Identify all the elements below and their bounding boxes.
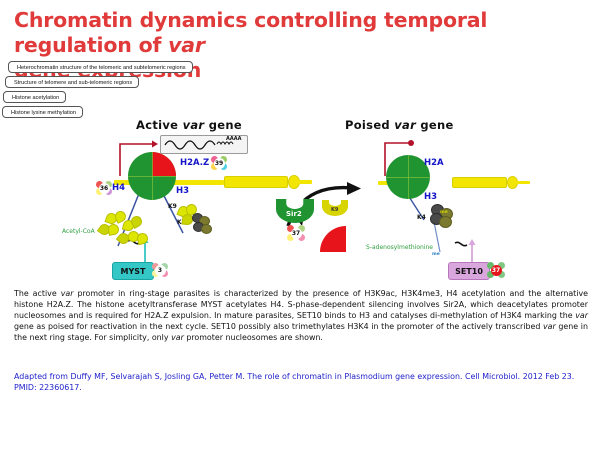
sam-hook <box>455 242 467 245</box>
enzyme-myst-box[interactable]: MYST <box>112 262 154 280</box>
poised-var-gene-body <box>452 177 507 188</box>
h4-modification-badge: 36 <box>96 180 112 196</box>
myst-modification-badge: 3 <box>152 262 168 278</box>
set10-modification-badge: 37 <box>487 261 505 279</box>
badge-core: 3 <box>155 265 166 276</box>
poised-bracket-stop-dot <box>408 140 414 146</box>
active-var-gene-body <box>224 176 288 188</box>
poised-heading-italic: var <box>394 118 416 132</box>
mrna-polya-path <box>217 142 233 144</box>
label-h2a: H2A <box>424 158 444 168</box>
released-acetyl-notch <box>329 199 341 206</box>
active-transcription-arrowhead <box>152 141 158 148</box>
enzyme-set10-label: SET10 <box>455 267 483 276</box>
slide-canvas: Chromatin dynamics controlling temporal … <box>0 0 600 449</box>
label-h3: H3 <box>176 186 189 196</box>
title-line1-text: Chromatin dynamics controlling temporal … <box>14 8 487 57</box>
active-heading-italic: var <box>183 118 205 132</box>
body-italic-var-3: var <box>543 322 556 331</box>
label-h4: H4 <box>112 183 125 193</box>
sir2-crescent-notch <box>286 198 303 209</box>
acetyl-group-leaf <box>136 232 149 245</box>
enzyme-sir2-label: Sir2 <box>286 210 302 218</box>
label-k9-active: K9 <box>168 203 177 210</box>
body-seg-1: The active <box>14 289 61 298</box>
badge-value: 36 <box>100 185 108 192</box>
poised-k4-link-line <box>434 222 440 252</box>
substrate-label-sam: S-adenosylmethionine <box>366 244 433 251</box>
h2az-quadrant <box>152 152 176 176</box>
enzyme-set10-box[interactable]: SET10 <box>448 262 490 280</box>
label-k4-poised: K4 <box>417 214 426 221</box>
panel-heading-poised-var-gene: Poised var gene <box>345 118 454 132</box>
active-nucleosome <box>128 152 176 200</box>
methyl-me-label: me <box>440 210 448 215</box>
active-dna-strand-right <box>298 180 312 184</box>
panel-heading-active-var-gene: Active var gene <box>136 118 242 132</box>
expelled-h2az-wedge <box>320 226 346 252</box>
description-paragraph: The active var promoter in ring-stage pa… <box>14 288 588 343</box>
outline-box-heterochromatin[interactable]: Heterochromatin structure of the telomer… <box>8 61 193 73</box>
methyl-group-blob <box>201 224 212 234</box>
badge-value: 37 <box>492 267 500 274</box>
active-heading-suffix: gene <box>204 118 242 132</box>
nucleosome-axis-horizontal <box>386 177 430 178</box>
mrna-wave-path <box>165 141 215 149</box>
badge-core: 39 <box>214 158 225 169</box>
poised-heading-prefix: Poised <box>345 118 394 132</box>
poised-dna-strand-right <box>516 181 530 184</box>
citation-reference: Adapted from Duffy MF, Selvarajah S, Jos… <box>14 371 588 394</box>
set10-arrowhead <box>469 239 476 245</box>
badge-value: 39 <box>215 160 223 167</box>
label-h3-poised: H3 <box>424 192 437 202</box>
transition-arrowhead <box>347 182 361 195</box>
methyl-me-label-lower: me <box>432 252 440 257</box>
badge-value: 3 <box>158 267 162 274</box>
outline-box-histone-acetylation[interactable]: Histone acetylation <box>3 91 66 103</box>
body-italic-var-4: var <box>171 333 184 342</box>
active-heading-prefix: Active <box>136 118 183 132</box>
sir2-modification-badge: 37 <box>287 224 305 242</box>
methyl-group-blob-poised <box>439 216 452 228</box>
title-line1-italic: var <box>168 33 205 57</box>
polya-tail-label: AAAA <box>226 136 241 142</box>
nucleosome-axis-horizontal <box>128 176 176 177</box>
acetyl-group-leaf <box>107 223 120 236</box>
poised-heading-suffix: gene <box>416 118 454 132</box>
outline-box-histone-lysine-methylation[interactable]: Histone lysine methylation <box>2 106 83 118</box>
badge-core: 37 <box>491 265 502 276</box>
badge-core: 37 <box>291 228 302 239</box>
h2az-modification-badge: 39 <box>211 155 227 171</box>
body-seg-2: promoter in ring-stage parasites is char… <box>14 289 588 320</box>
body-italic-var-2: var <box>575 311 588 320</box>
body-italic-var-1: var <box>61 289 74 298</box>
body-seg-3: gene as poised for reactivation in the n… <box>14 322 543 331</box>
enzyme-myst-label: MYST <box>121 267 146 276</box>
label-h2az: H2A.Z <box>180 158 209 168</box>
outline-box-telomere-structure[interactable]: Structure of telomere and sub-telomeric … <box>5 76 139 88</box>
badge-value: 37 <box>292 230 300 237</box>
substrate-label-acetyl-coa: Acetyl-CoA <box>62 228 95 235</box>
body-seg-5: promoter nucleosomes are shown. <box>184 333 323 342</box>
label-k9-released: K9 <box>331 207 338 213</box>
badge-core: 36 <box>99 183 110 194</box>
